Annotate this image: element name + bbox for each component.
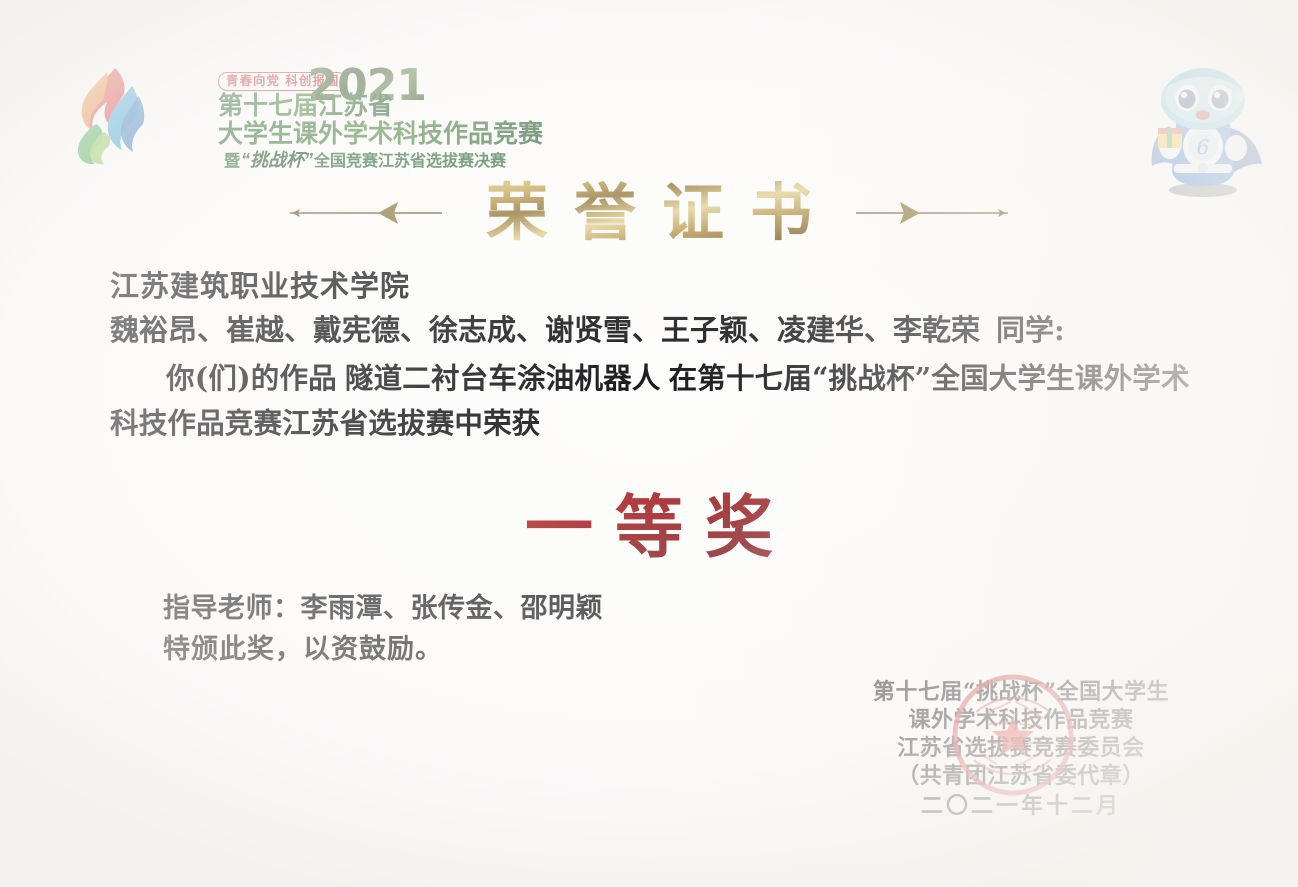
issuer-line-2: 课外学术科技作品竞赛 [856, 706, 1186, 734]
title-right-ornament-icon [848, 196, 1016, 230]
certificate-body: 江苏建筑职业技术学院 魏裕昂、崔越、戴宪德、徐志成、谢贤雪、王子颖、凌建华、李乾… [110, 265, 1210, 446]
recipient-names: 魏裕昂、崔越、戴宪德、徐志成、谢贤雪、王子颖、凌建华、李乾荣 [110, 313, 980, 347]
logo-line-3: 暨“挑战杯”全国竞赛江苏省选拔赛决赛 [224, 150, 506, 172]
logo-line3-suffix: 全国竞赛江苏省选拔赛决赛 [314, 153, 506, 170]
advisor-block: 指导老师：李雨潭、张传金、邵明颖 特颁此奖，以资鼓励。 [163, 588, 603, 670]
page-title: 荣誉证书 [460, 172, 838, 254]
recipient-organization: 江苏建筑职业技术学院 [110, 265, 1210, 307]
ribbon-rust-stripe [0, 774, 348, 887]
work-title: 隧道二衬台车涂油机器人 [337, 361, 669, 395]
ribbon-olive-stripe [0, 694, 348, 887]
competition-logo: 青春向党 科创报国 2021 第十七届江苏省 大学生课外学术科技作品竞赛 暨“挑… [74, 62, 424, 177]
logo-line-2: 大学生课外学术科技作品竞赛 [218, 120, 543, 148]
logo-line3-cup: “挑战杯” [240, 150, 314, 170]
recipient-suffix: 同学: [980, 313, 1065, 347]
advisor-line: 指导老师：李雨潭、张传金、邵明颖 [163, 588, 603, 629]
issuer-line-1: 第十七届“挑战杯”全国大学生 [856, 678, 1186, 706]
recipient-names-line: 魏裕昂、崔越、戴宪德、徐志成、谢贤雪、王子颖、凌建华、李乾荣同学: [110, 307, 1210, 353]
closing-statement: 特颁此奖，以资鼓励。 [163, 629, 603, 670]
citation-paragraph: 你(们)的作品隧道二衬台车涂油机器人在第十七届“挑战杯”全国大学生课外学术科技作… [110, 356, 1200, 446]
award-level: 一等奖 [0, 482, 1298, 574]
issuer-line-3: 江苏省选拔赛竞赛委员会 [856, 734, 1186, 762]
certificate-page: 青春向党 科创报国 2021 第十七届江苏省 大学生课外学术科技作品竞赛 暨“挑… [0, 0, 1298, 887]
issuer-signature-block: 第十七届“挑战杯”全国大学生 课外学术科技作品竞赛 江苏省选拔赛竞赛委员会 （共… [856, 678, 1186, 820]
svg-text:6: 6 [1197, 135, 1210, 159]
certificate-title-row: 荣誉证书 [0, 172, 1298, 254]
issue-date: 二〇二一年十二月 [856, 792, 1186, 820]
title-left-ornament-icon [282, 196, 450, 230]
advisor-names: 李雨潭、张传金、邵明颖 [301, 593, 604, 624]
issuer-line-4: （共青团江苏省委代章） [856, 762, 1186, 790]
flame-logo-icon [74, 66, 150, 166]
citation-prefix: 你(们)的作品 [166, 361, 337, 395]
logo-line-1: 第十七届江苏省 [218, 92, 393, 120]
advisor-label: 指导老师： [163, 593, 301, 624]
logo-line3-prefix: 暨 [224, 153, 240, 170]
